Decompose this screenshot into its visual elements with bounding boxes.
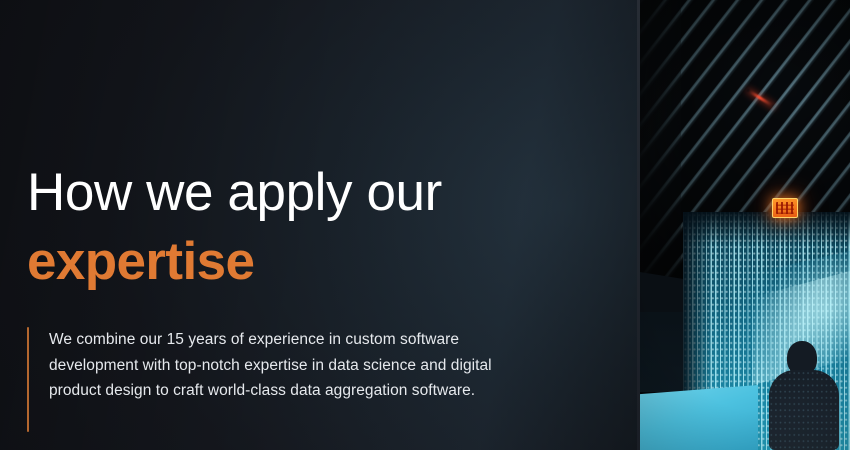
person-light-texture bbox=[769, 370, 839, 450]
cyan-wall-panel bbox=[640, 385, 758, 450]
hero-text-panel: How we apply our expertise We combine ou… bbox=[0, 0, 637, 450]
headline-line-accent: expertise bbox=[27, 235, 587, 288]
neon-sign-icon bbox=[772, 198, 798, 218]
panel-divider bbox=[637, 0, 640, 450]
neon-sign-glyph bbox=[776, 202, 794, 214]
accent-bar bbox=[27, 327, 29, 432]
hero-section: How we apply our expertise We combine ou… bbox=[0, 0, 850, 450]
person-silhouette bbox=[765, 341, 843, 450]
hero-description-text: We combine our 15 years of experience in… bbox=[49, 327, 497, 432]
hero-description-block: We combine our 15 years of experience in… bbox=[27, 327, 497, 432]
hero-image-panel bbox=[637, 0, 850, 450]
page-title: How we apply our expertise bbox=[27, 166, 587, 288]
headline-line-primary: How we apply our bbox=[27, 166, 587, 219]
